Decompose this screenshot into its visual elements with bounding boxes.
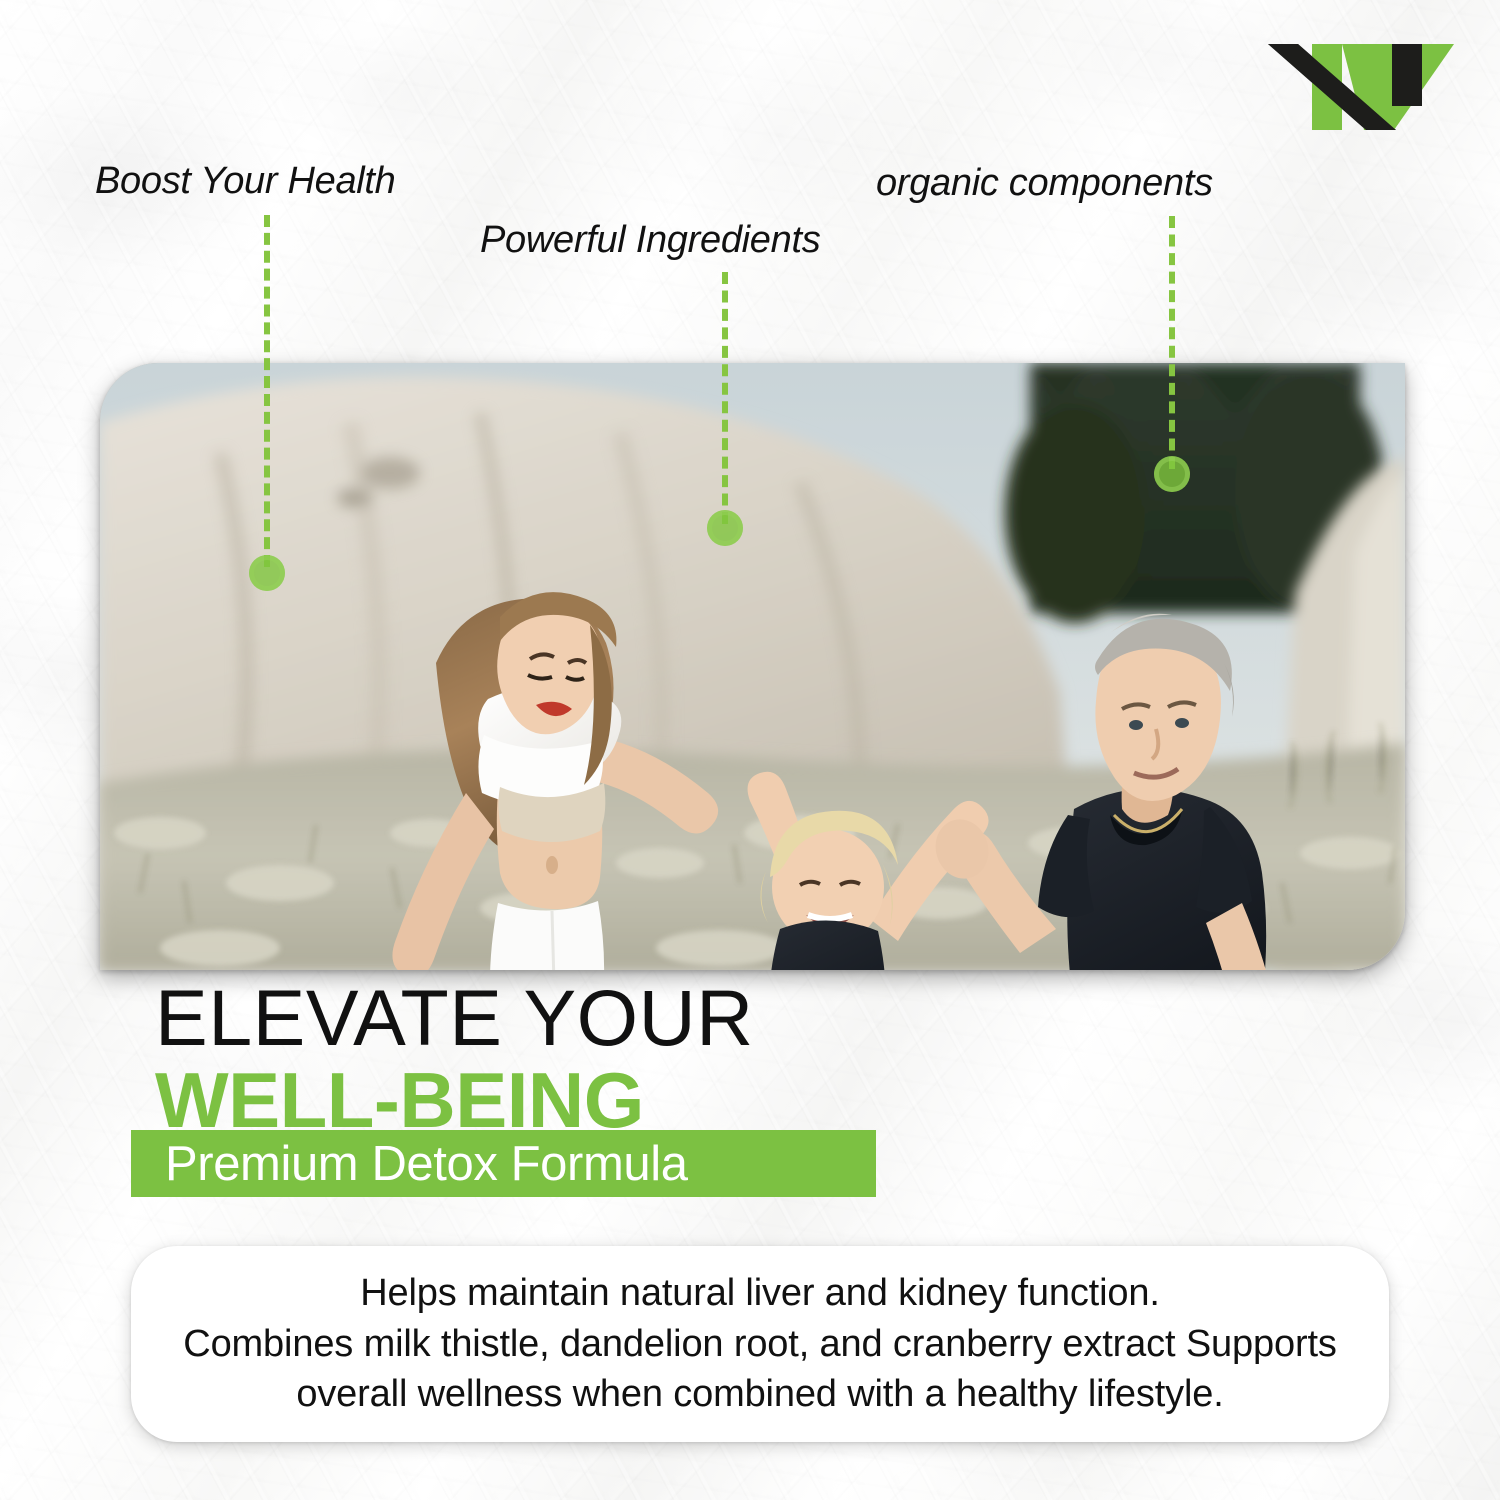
callout-dot-icon-3 [1154, 456, 1190, 492]
stylized-n-monogram-icon [1262, 32, 1460, 142]
callout-label-organic-components: organic components [876, 162, 1213, 205]
brand-logo [1262, 32, 1460, 142]
callout-dot-icon-2 [707, 510, 743, 546]
callout-dashed-line-1 [264, 215, 270, 567]
description-text: Helps maintain natural liver and kidney … [165, 1268, 1355, 1421]
product-banner: Premium Detox Formula [131, 1130, 876, 1197]
family-lifestyle-photo [100, 363, 1405, 970]
callout-label-boost-your-health: Boost Your Health [95, 160, 396, 203]
page-title-line-1: ELEVATE YOUR [155, 978, 754, 1057]
description-card: Helps maintain natural liver and kidney … [131, 1246, 1389, 1442]
callout-dashed-line-2 [722, 272, 728, 524]
page-title-line-2: WELL-BEING [155, 1061, 644, 1139]
callout-dashed-line-3 [1169, 216, 1175, 469]
callout-dot-icon-1 [249, 555, 285, 591]
callout-label-powerful-ingredients: Powerful Ingredients [480, 219, 820, 262]
product-banner-label: Premium Detox Formula [165, 1136, 688, 1192]
hero-photo-illustration [100, 363, 1405, 970]
